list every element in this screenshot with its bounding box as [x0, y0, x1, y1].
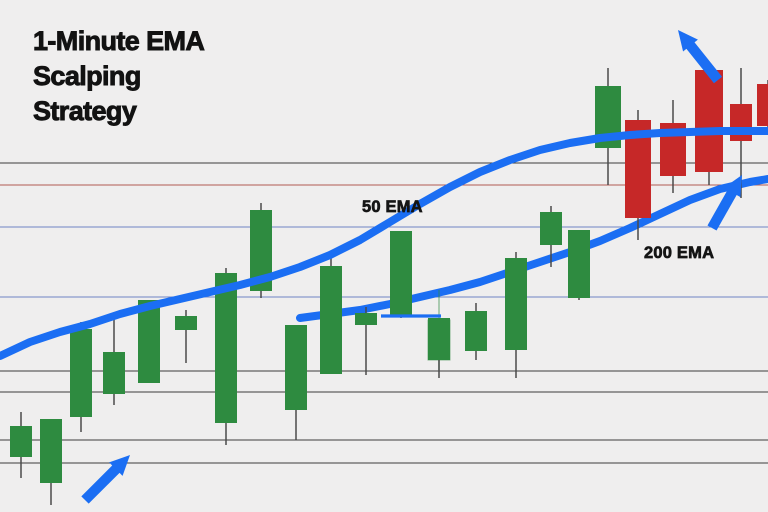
candle-body-3 — [103, 352, 125, 394]
candle-body-0 — [10, 426, 32, 457]
candle-body-23 — [757, 84, 768, 126]
candle-body-5 — [175, 316, 197, 330]
candle-body-10 — [355, 313, 377, 325]
candle-body-9 — [320, 266, 342, 374]
candle-body-16 — [540, 212, 562, 245]
candle-body-17 — [568, 230, 590, 298]
candle-body-2 — [70, 329, 92, 417]
candle-body-14 — [465, 311, 487, 351]
candle-body-15 — [505, 258, 527, 350]
candle-body-13 — [428, 318, 450, 360]
candle-body-11 — [390, 231, 412, 316]
chart-canvas: 1-Minute EMA Scalping Strategy 50 EMA 20… — [0, 0, 768, 512]
candle-body-6 — [215, 273, 237, 423]
candle-body-8 — [285, 325, 307, 410]
ema-50-label: 50 EMA — [362, 198, 423, 217]
candle-body-22 — [730, 104, 752, 141]
candle-body-21 — [695, 70, 723, 172]
candle-body-1 — [40, 419, 62, 483]
page-title: 1-Minute EMA Scalping Strategy — [33, 24, 204, 129]
ema-200-label: 200 EMA — [644, 244, 714, 263]
